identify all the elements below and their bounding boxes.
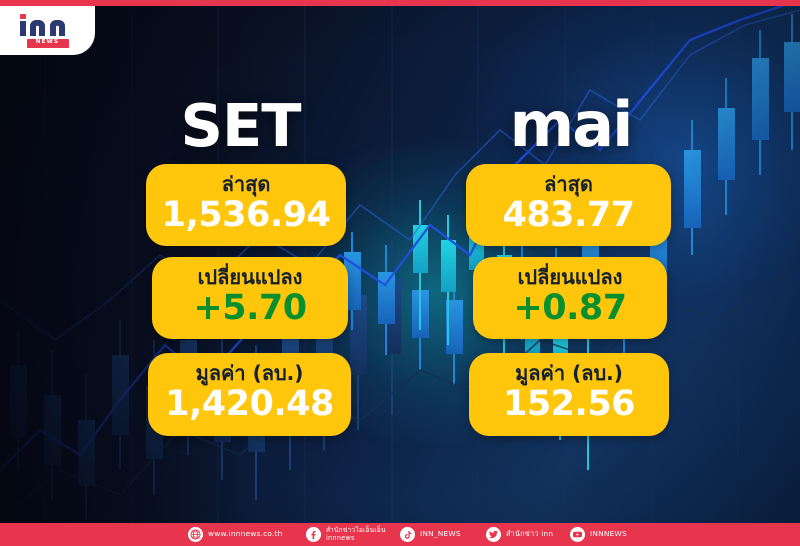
footer-tiktok-text: INN_NEWS: [420, 530, 461, 539]
footer-twitter-text: สำนักข่าว inn: [506, 530, 553, 539]
mai-latest-label: ล่าสุด: [476, 172, 661, 197]
twitter-icon: [486, 527, 501, 542]
index-column-mai: mai ล่าสุด 483.77 เปลี่ยนแปลง +0.87 มูลค…: [448, 86, 693, 436]
footer-social-bar: www.innnews.co.th สำนักข่าวไอเอ็นเอ็น in…: [0, 523, 800, 546]
footer-facebook-line2: innnews: [326, 535, 386, 543]
footer-youtube-text: INNNEWS: [590, 530, 627, 539]
mai-card-change[interactable]: เปลี่ยนแปลง +0.87: [473, 257, 667, 339]
mai-latest-value: 483.77: [476, 196, 661, 235]
set-latest-label: ล่าสุด: [156, 172, 336, 197]
index-title-mai: mai: [448, 86, 693, 164]
globe-icon: [188, 527, 203, 542]
footer-website-text: www.innnews.co.th: [208, 530, 283, 539]
youtube-icon: [570, 527, 585, 542]
footer-item-twitter[interactable]: สำนักข่าว inn: [486, 527, 553, 542]
mai-card-latest[interactable]: ล่าสุด 483.77: [466, 164, 671, 246]
mai-value-value: 152.56: [479, 385, 659, 424]
set-change-value: +5.70: [162, 289, 338, 328]
set-value-label: มูลค่า (ลบ.): [158, 361, 341, 386]
footer-facebook-text-block: สำนักข่าวไอเอ็นเอ็น innnews: [326, 527, 386, 543]
index-column-set: SET ล่าสุด 1,536.94 เปลี่ยนแปลง +5.70 มู…: [118, 86, 363, 436]
footer-item-tiktok[interactable]: INN_NEWS: [400, 527, 461, 542]
footer-item-facebook[interactable]: สำนักข่าวไอเอ็นเอ็น innnews: [306, 527, 386, 543]
mai-change-value: +0.87: [483, 289, 657, 328]
set-value-value: 1,420.48: [158, 385, 341, 424]
infographic-stage: NEWS SET ล่าสุด 1,536.94 เปลี่ยนแปลง +5.…: [0, 0, 800, 546]
footer-item-website[interactable]: www.innnews.co.th: [188, 527, 283, 542]
set-latest-value: 1,536.94: [156, 196, 336, 235]
facebook-icon: [306, 527, 321, 542]
set-card-value[interactable]: มูลค่า (ลบ.) 1,420.48: [148, 353, 351, 435]
set-card-change[interactable]: เปลี่ยนแปลง +5.70: [152, 257, 348, 339]
mai-value-label: มูลค่า (ลบ.): [479, 361, 659, 386]
logo-news-badge: NEWS: [27, 39, 69, 48]
inn-wordmark-icon: [19, 14, 77, 36]
tiktok-icon: [400, 527, 415, 542]
index-title-set: SET: [118, 86, 363, 164]
logo-news-text: NEWS: [36, 40, 60, 46]
set-change-label: เปลี่ยนแปลง: [162, 265, 338, 290]
footer-item-youtube[interactable]: INNNEWS: [570, 527, 627, 542]
top-accent-bar: [0, 0, 800, 6]
inn-news-logo[interactable]: NEWS: [0, 6, 95, 55]
mai-change-label: เปลี่ยนแปลง: [483, 265, 657, 290]
mai-card-value[interactable]: มูลค่า (ลบ.) 152.56: [469, 353, 669, 435]
set-card-latest[interactable]: ล่าสุด 1,536.94: [146, 164, 346, 246]
